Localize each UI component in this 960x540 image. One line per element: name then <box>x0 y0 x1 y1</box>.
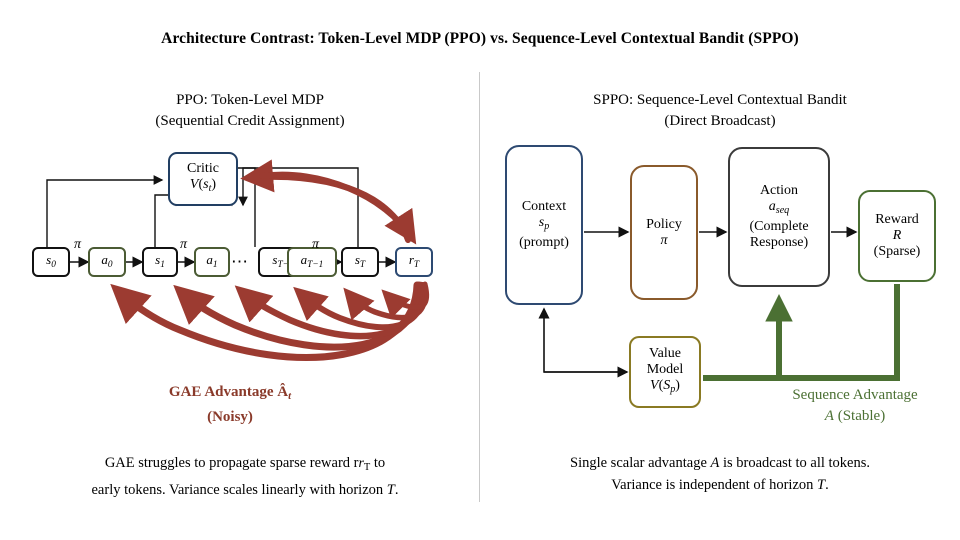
diagram-canvas: Architecture Contrast: Token-Level MDP (… <box>0 0 960 540</box>
sequence-advantage-label: Sequence Advantage A (Stable) <box>725 385 960 427</box>
right-caption-line2: Variance is independent of horizon T. <box>495 474 945 496</box>
right-panel-caption: Single scalar advantage A is broadcast t… <box>495 452 945 496</box>
sequence-advantage-line1: Sequence Advantage <box>725 385 960 406</box>
right-caption-line1: Single scalar advantage A is broadcast t… <box>495 452 945 474</box>
sequence-advantage-line2: A (Stable) <box>725 406 960 427</box>
